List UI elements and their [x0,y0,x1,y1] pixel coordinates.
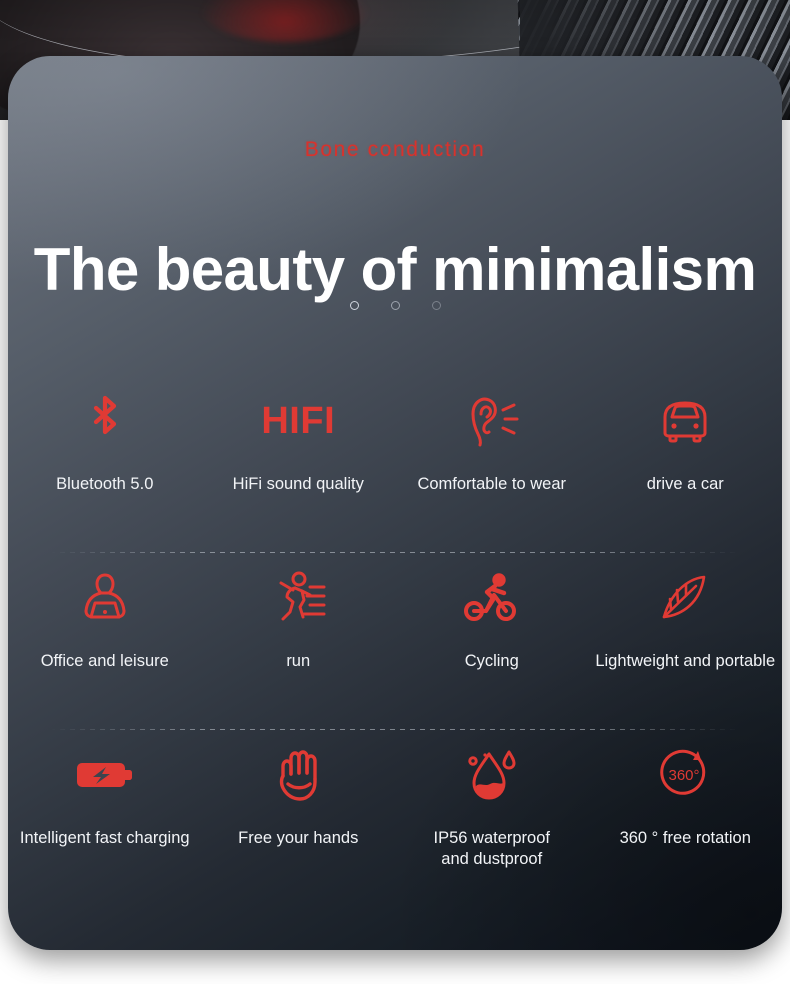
feature-label: Cycling [465,651,519,672]
feature-row: Office and leisure [8,553,782,729]
product-feature-poster: Bone conduction The beauty of minimalism… [0,0,790,984]
feature-item-hifi[interactable]: HIFI HiFi sound quality [202,376,396,495]
car-icon [655,390,715,452]
feature-label: 360 ° free rotation [620,828,751,849]
rotation-360-icon: 360° [655,744,715,806]
svg-text:360°: 360° [669,767,700,784]
cyclist-icon [460,567,524,629]
feature-label: Intelligent fast charging [20,828,190,849]
feature-grid: Bluetooth 5.0 HIFI HiFi sound quality [8,376,782,906]
carousel-dots[interactable] [8,301,782,310]
running-person-icon [266,567,330,629]
feature-label: IP56 waterproof and dustproof [434,828,550,870]
hifi-text: HIFI [261,402,335,440]
ear-sound-icon [461,390,523,452]
feature-panel: Bone conduction The beauty of minimalism… [8,56,782,950]
feature-row: Intelligent fast charging Free yo [8,730,782,906]
carousel-dot-3[interactable] [432,301,441,310]
feature-item-office[interactable]: Office and leisure [8,553,202,672]
water-drop-icon [461,744,523,806]
hifi-wordmark-icon: HIFI [261,390,335,452]
person-laptop-icon [76,567,134,629]
feature-item-comfort[interactable]: Comfortable to wear [395,376,589,495]
feature-item-bluetooth[interactable]: Bluetooth 5.0 [8,376,202,495]
feature-label: Bluetooth 5.0 [56,474,153,495]
battery-charging-icon [73,744,137,806]
row-divider [50,552,740,553]
feature-item-free-hands[interactable]: Free your hands [202,730,396,849]
carousel-dot-1[interactable] [350,301,359,310]
feature-item-rotation[interactable]: 360° 360 ° free rotation [589,730,783,849]
carousel-dot-2[interactable] [391,301,400,310]
feature-label: Comfortable to wear [417,474,566,495]
feature-item-run[interactable]: run [202,553,396,672]
feature-item-lightweight[interactable]: Lightweight and portable [589,553,783,672]
feature-item-drive[interactable]: drive a car [589,376,783,495]
feature-item-fast-charging[interactable]: Intelligent fast charging [8,730,202,849]
feature-label: HiFi sound quality [233,474,364,495]
feature-label: Office and leisure [41,651,169,672]
eyebrow-text: Bone conduction [8,138,782,162]
hand-icon [270,744,326,806]
feature-item-cycling[interactable]: Cycling [395,553,589,672]
feature-label: drive a car [647,474,724,495]
feature-label: Free your hands [238,828,358,849]
feature-label: Lightweight and portable [595,651,775,672]
feature-item-waterproof[interactable]: IP56 waterproof and dustproof [395,730,589,870]
bluetooth-icon [83,390,127,452]
page-title: The beauty of minimalism [8,238,782,301]
feature-label: run [286,651,310,672]
feather-icon [656,567,714,629]
row-divider [50,729,740,730]
feature-row: Bluetooth 5.0 HIFI HiFi sound quality [8,376,782,552]
